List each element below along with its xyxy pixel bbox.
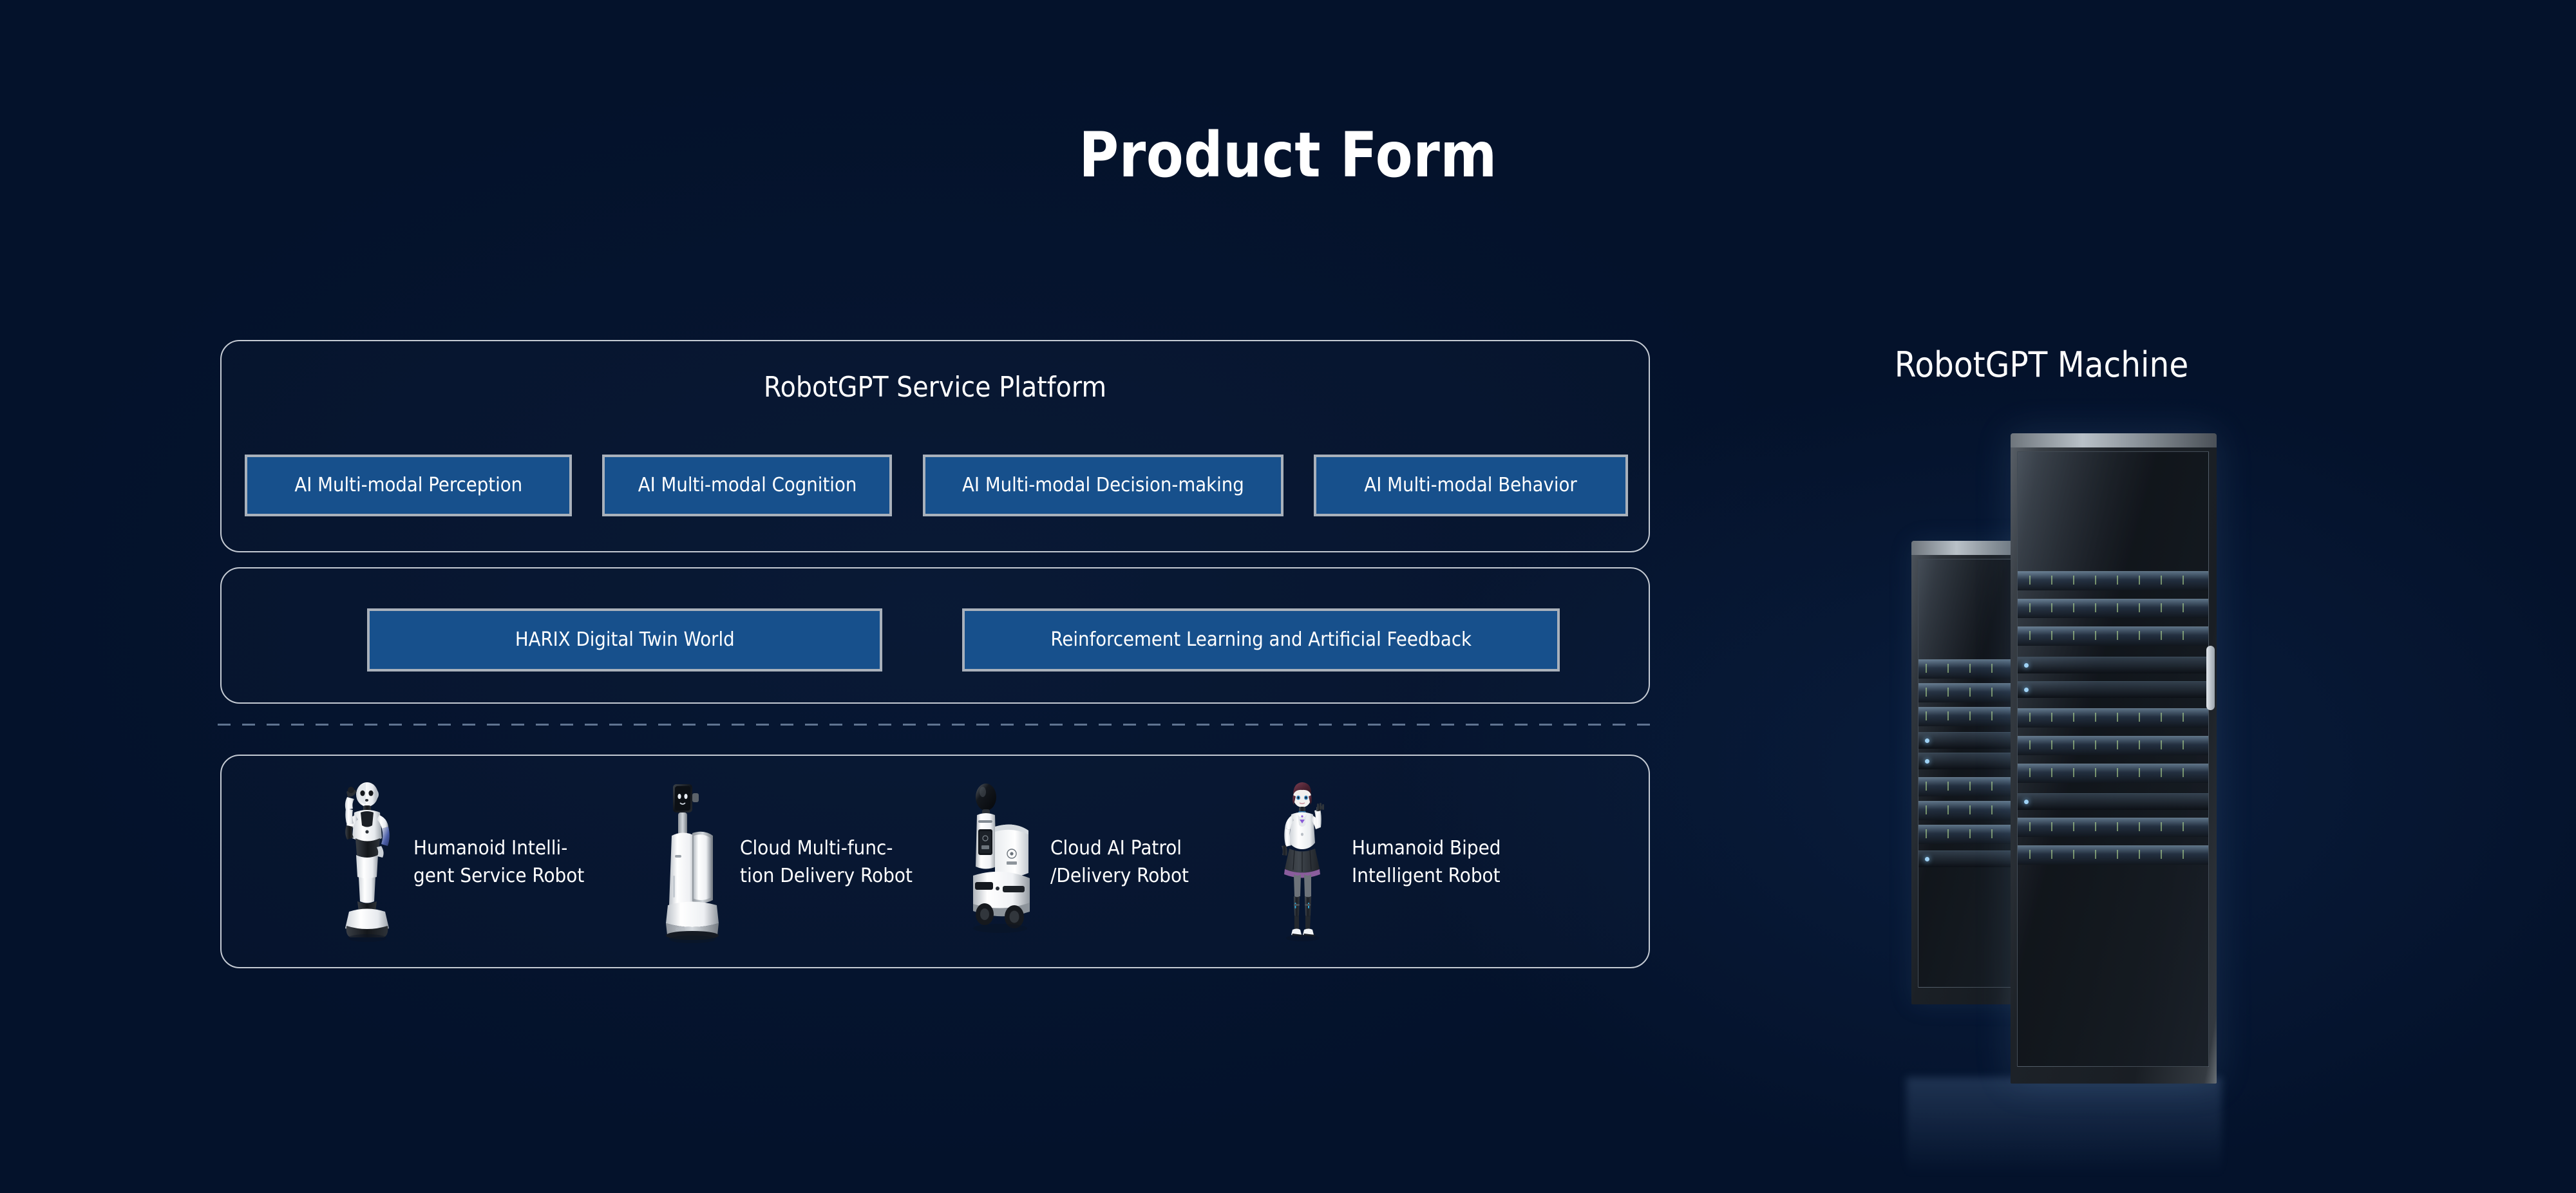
list-item-label: Humanoid Biped Intelligent Robot (1352, 835, 1501, 890)
rack-door-handle[interactable] (2206, 646, 2215, 710)
list-item-humanoid-biped-robot[interactable]: Humanoid Biped Intelligent Robot (1265, 779, 1512, 946)
list-item-label: Cloud Multi-func- tion Delivery Robot (740, 835, 913, 890)
chip-ai-multimodal-perception[interactable]: AI Multi-modal Perception (245, 455, 572, 516)
rack-top-panel (2011, 433, 2217, 447)
chip-ai-multimodal-decision-making[interactable]: AI Multi-modal Decision-making (923, 455, 1283, 516)
capability-chip-row: AI Multi-modal Perception AI Multi-modal… (245, 455, 1628, 516)
server-rack-icon (1900, 422, 2260, 1027)
humanoid-service-robot-icon (327, 779, 404, 946)
chip-label: AI Multi-modal Perception (294, 476, 522, 495)
robots-panel: Humanoid Intelli- gent Service Robot (220, 755, 1650, 968)
chip-ai-multimodal-behavior[interactable]: AI Multi-modal Behavior (1314, 455, 1628, 516)
server-rack-primary (2011, 433, 2217, 1084)
foundation-panel: HARIX Digital Twin World Reinforcement L… (220, 567, 1650, 704)
platform-panel-heading: RobotGPT Service Platform (293, 371, 1577, 404)
robot-list: Humanoid Intelli- gent Service Robot (263, 779, 1610, 946)
platform-panel: RobotGPT Service Platform AI Multi-modal… (220, 340, 1650, 552)
chip-label: AI Multi-modal Cognition (638, 476, 857, 495)
chip-ai-multimodal-cognition[interactable]: AI Multi-modal Cognition (602, 455, 892, 516)
humanoid-biped-robot-icon (1265, 779, 1343, 946)
chip-harix-digital-twin-world[interactable]: HARIX Digital Twin World (367, 608, 882, 672)
list-item-label: Cloud AI Patrol /Delivery Robot (1050, 835, 1189, 890)
page-title: Product Form (155, 119, 2421, 191)
rack-glass-door (2017, 451, 2209, 1067)
list-item-cloud-delivery-robot[interactable]: oo3 Cloud Multi-func- tion Delivery Robo… (654, 779, 925, 946)
chip-label: Reinforcement Learning and Artificial Fe… (1050, 630, 1472, 650)
chip-label: AI Multi-modal Decision-making (962, 476, 1244, 495)
chip-reinforcement-learning-feedback[interactable]: Reinforcement Learning and Artificial Fe… (962, 608, 1560, 672)
foundation-chip-row: HARIX Digital Twin World Reinforcement L… (245, 608, 1628, 672)
section-divider (218, 724, 1654, 726)
chip-label: AI Multi-modal Behavior (1365, 476, 1577, 495)
chip-label: HARIX Digital Twin World (515, 630, 735, 650)
cloud-delivery-robot-icon: oo3 (654, 779, 731, 946)
machine-title: RobotGPT Machine (1839, 344, 2244, 385)
rack-reflection (1906, 1077, 2222, 1193)
list-item-label: Humanoid Intelli- gent Service Robot (413, 835, 584, 890)
cloud-patrol-robot-icon (964, 779, 1041, 946)
list-item-humanoid-service-robot[interactable]: Humanoid Intelli- gent Service Robot (327, 779, 597, 946)
svg-text:oo3: oo3 (676, 926, 685, 932)
list-item-cloud-patrol-robot[interactable]: Cloud AI Patrol /Delivery Robot (964, 779, 1199, 946)
